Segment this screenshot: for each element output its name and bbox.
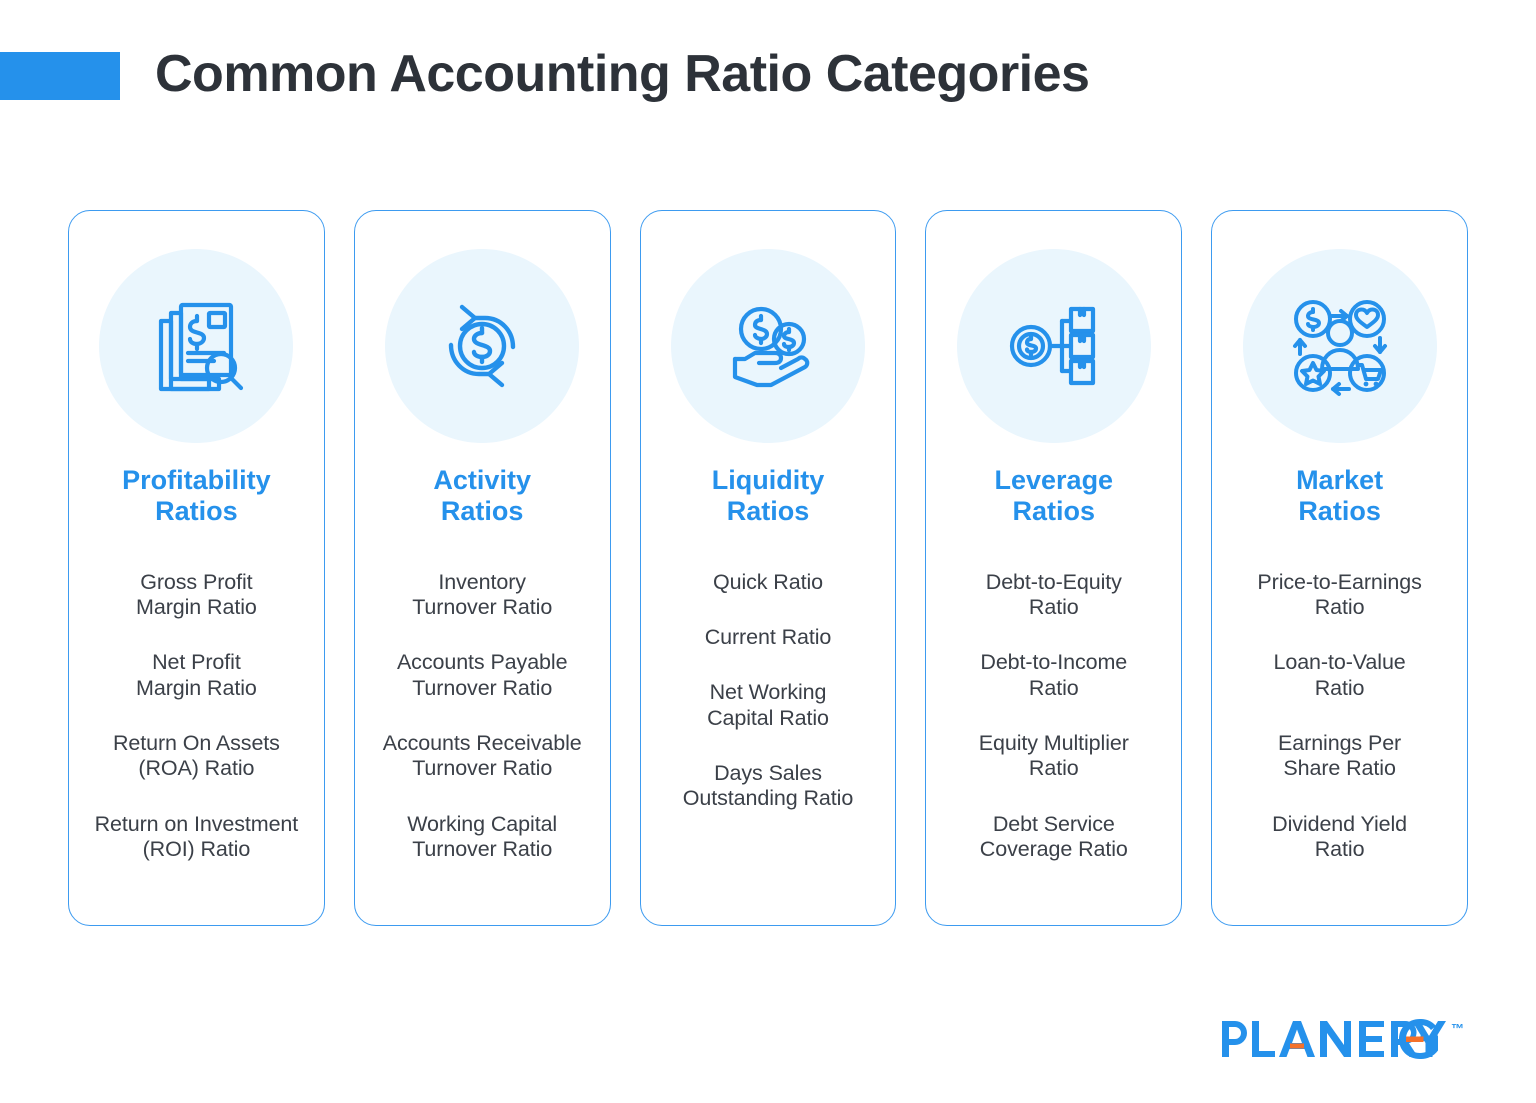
ratio-item: Return on Investment (ROI) Ratio [95, 812, 299, 863]
hand-holding-coins-icon [671, 249, 865, 443]
card-title: Profitability Ratios [122, 465, 271, 528]
ratio-item: Price-to-Earnings Ratio [1257, 570, 1421, 621]
accent-bar [0, 52, 120, 100]
ratio-category-cards: Profitability Ratios Gross Profit Margin… [68, 210, 1468, 926]
planergy-logo[interactable]: ™ [1220, 1017, 1464, 1061]
ratio-list: Quick Ratio Current Ratio Net Working Ca… [641, 570, 896, 812]
card-liquidity[interactable]: Liquidity Ratios Quick Ratio Current Rat… [640, 210, 897, 926]
card-title: Liquidity Ratios [712, 465, 824, 528]
coin-boxes-distribution-icon [957, 249, 1151, 443]
ratio-list: Price-to-Earnings Ratio Loan-to-Value Ra… [1212, 570, 1467, 863]
ratio-item: Net Profit Margin Ratio [136, 650, 257, 701]
card-leverage[interactable]: Leverage Ratios Debt-to-Equity Ratio Deb… [925, 210, 1182, 926]
ratio-item: Debt Service Coverage Ratio [980, 812, 1128, 863]
card-activity[interactable]: Activity Ratios Inventory Turnover Ratio… [354, 210, 611, 926]
card-title: Activity Ratios [433, 465, 531, 528]
page-title: Common Accounting Ratio Categories [155, 44, 1089, 104]
ratio-item: Equity Multiplier Ratio [979, 731, 1129, 782]
financial-report-magnifier-icon [99, 249, 293, 443]
ratio-item: Accounts Payable Turnover Ratio [397, 650, 568, 701]
ratio-item: Current Ratio [705, 625, 832, 650]
ratio-item: Gross Profit Margin Ratio [136, 570, 257, 621]
ratio-item: Inventory Turnover Ratio [412, 570, 552, 621]
ratio-item: Earnings Per Share Ratio [1278, 731, 1401, 782]
ratio-item: Quick Ratio [713, 570, 823, 595]
ratio-item: Return On Assets (ROA) Ratio [113, 731, 280, 782]
page-header: Common Accounting Ratio Categories [0, 0, 1536, 160]
ratio-item: Net Working Capital Ratio [707, 680, 829, 731]
ratio-item: Dividend Yield Ratio [1272, 812, 1407, 863]
ratio-item: Debt-to-Income Ratio [980, 650, 1127, 701]
ratio-list: Gross Profit Margin Ratio Net Profit Mar… [69, 570, 324, 863]
ratio-item: Loan-to-Value Ratio [1273, 650, 1405, 701]
card-title: Market Ratios [1296, 465, 1383, 528]
card-market[interactable]: Market Ratios Price-to-Earnings Ratio Lo… [1211, 210, 1468, 926]
ratio-item: Working Capital Turnover Ratio [407, 812, 557, 863]
card-title: Leverage Ratios [995, 465, 1114, 528]
ratio-item: Debt-to-Equity Ratio [986, 570, 1122, 621]
ratio-list: Debt-to-Equity Ratio Debt-to-Income Rati… [926, 570, 1181, 863]
ratio-item: Days Sales Outstanding Ratio [683, 761, 853, 812]
planergy-wordmark-icon [1220, 1017, 1448, 1061]
customer-market-cycle-icon [1243, 249, 1437, 443]
ratio-item: Accounts Receivable Turnover Ratio [383, 731, 582, 782]
ratio-list: Inventory Turnover Ratio Accounts Payabl… [355, 570, 610, 863]
card-profitability[interactable]: Profitability Ratios Gross Profit Margin… [68, 210, 325, 926]
trademark-symbol: ™ [1451, 1021, 1464, 1036]
money-turnover-arrows-icon [385, 249, 579, 443]
